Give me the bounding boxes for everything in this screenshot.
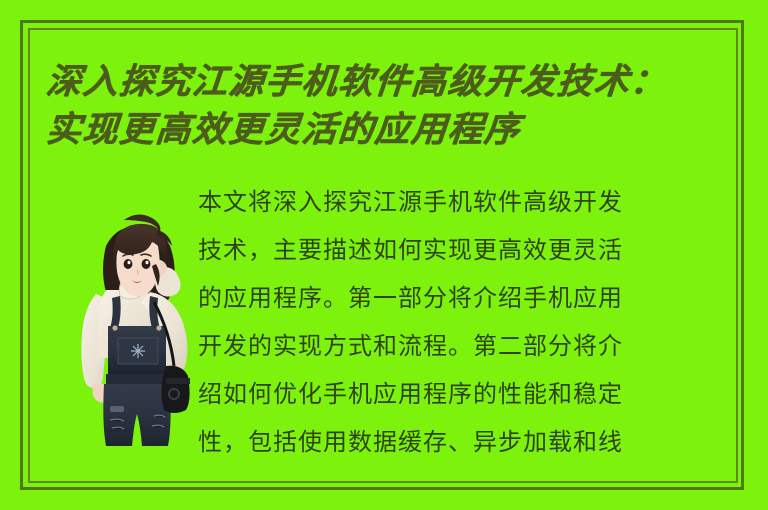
body-line-6: 性，包括使用数据缓存、异步加载和线 (198, 418, 738, 466)
poster-canvas: 深入探究江源手机软件高级开发技术： 实现更高效更灵活的应用程序 本文将深入探究江… (0, 0, 768, 510)
body-line-5: 绍如何优化手机应用程序的性能和稳定 (198, 370, 738, 418)
person-illustration (62, 206, 214, 484)
body-line-4: 开发的实现方式和流程。第二部分将介 (198, 322, 738, 370)
poster-body-text: 本文将深入探究江源手机软件高级开发 技术，主要描述如何实现更高效更灵活 的应用程… (198, 178, 738, 466)
body-line-1: 本文将深入探究江源手机软件高级开发 (198, 178, 738, 226)
title-line-1: 深入探究江源手机软件高级开发技术： (44, 58, 738, 106)
poster-title: 深入探究江源手机软件高级开发技术： 实现更高效更灵活的应用程序 (46, 58, 736, 154)
body-line-2: 技术，主要描述如何实现更高效更灵活 (198, 226, 738, 274)
body-line-3: 的应用程序。第一部分将介绍手机应用 (198, 274, 738, 322)
title-line-2: 实现更高效更灵活的应用程序 (44, 106, 738, 154)
person-cutout-image (62, 206, 214, 484)
